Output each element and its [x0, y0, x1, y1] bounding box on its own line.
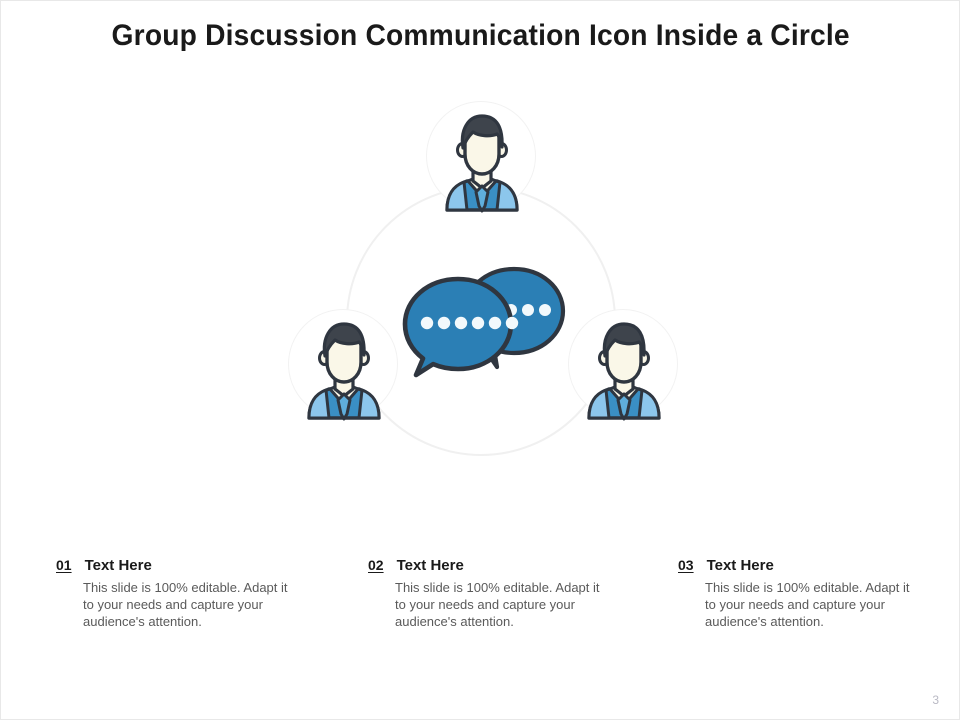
column-header: 03 Text Here: [678, 557, 960, 574]
person-icon: [427, 102, 537, 212]
column-body: This slide is 100% editable. Adapt it to…: [395, 579, 600, 630]
person-avatar-left: [288, 309, 398, 419]
column-body: This slide is 100% editable. Adapt it to…: [705, 579, 910, 630]
column-number: 01: [56, 557, 72, 573]
column-number: 02: [368, 557, 384, 573]
column-number: 03: [678, 557, 694, 573]
text-columns: 01 Text Here This slide is 100% editable…: [1, 557, 960, 667]
person-avatar-right: [568, 309, 678, 419]
text-column-01: 01 Text Here This slide is 100% editable…: [56, 557, 346, 630]
page-number: 3: [932, 693, 939, 707]
column-body: This slide is 100% editable. Adapt it to…: [83, 579, 288, 630]
person-icon: [569, 310, 679, 420]
speech-bubbles-icon: [401, 263, 571, 383]
title-bar: Group Discussion Communication Icon Insi…: [1, 19, 960, 53]
column-header: 01 Text Here: [56, 557, 346, 574]
text-column-03: 03 Text Here This slide is 100% editable…: [678, 557, 960, 630]
column-title: Text Here: [397, 557, 464, 574]
column-title: Text Here: [707, 557, 774, 574]
column-header: 02 Text Here: [368, 557, 658, 574]
person-icon: [289, 310, 399, 420]
slide-canvas: Group Discussion Communication Icon Insi…: [0, 0, 960, 720]
text-column-02: 02 Text Here This slide is 100% editable…: [368, 557, 658, 630]
group-discussion-diagram: [1, 81, 960, 481]
page-title: Group Discussion Communication Icon Insi…: [112, 19, 850, 53]
person-avatar-top: [426, 101, 536, 211]
column-title: Text Here: [85, 557, 152, 574]
